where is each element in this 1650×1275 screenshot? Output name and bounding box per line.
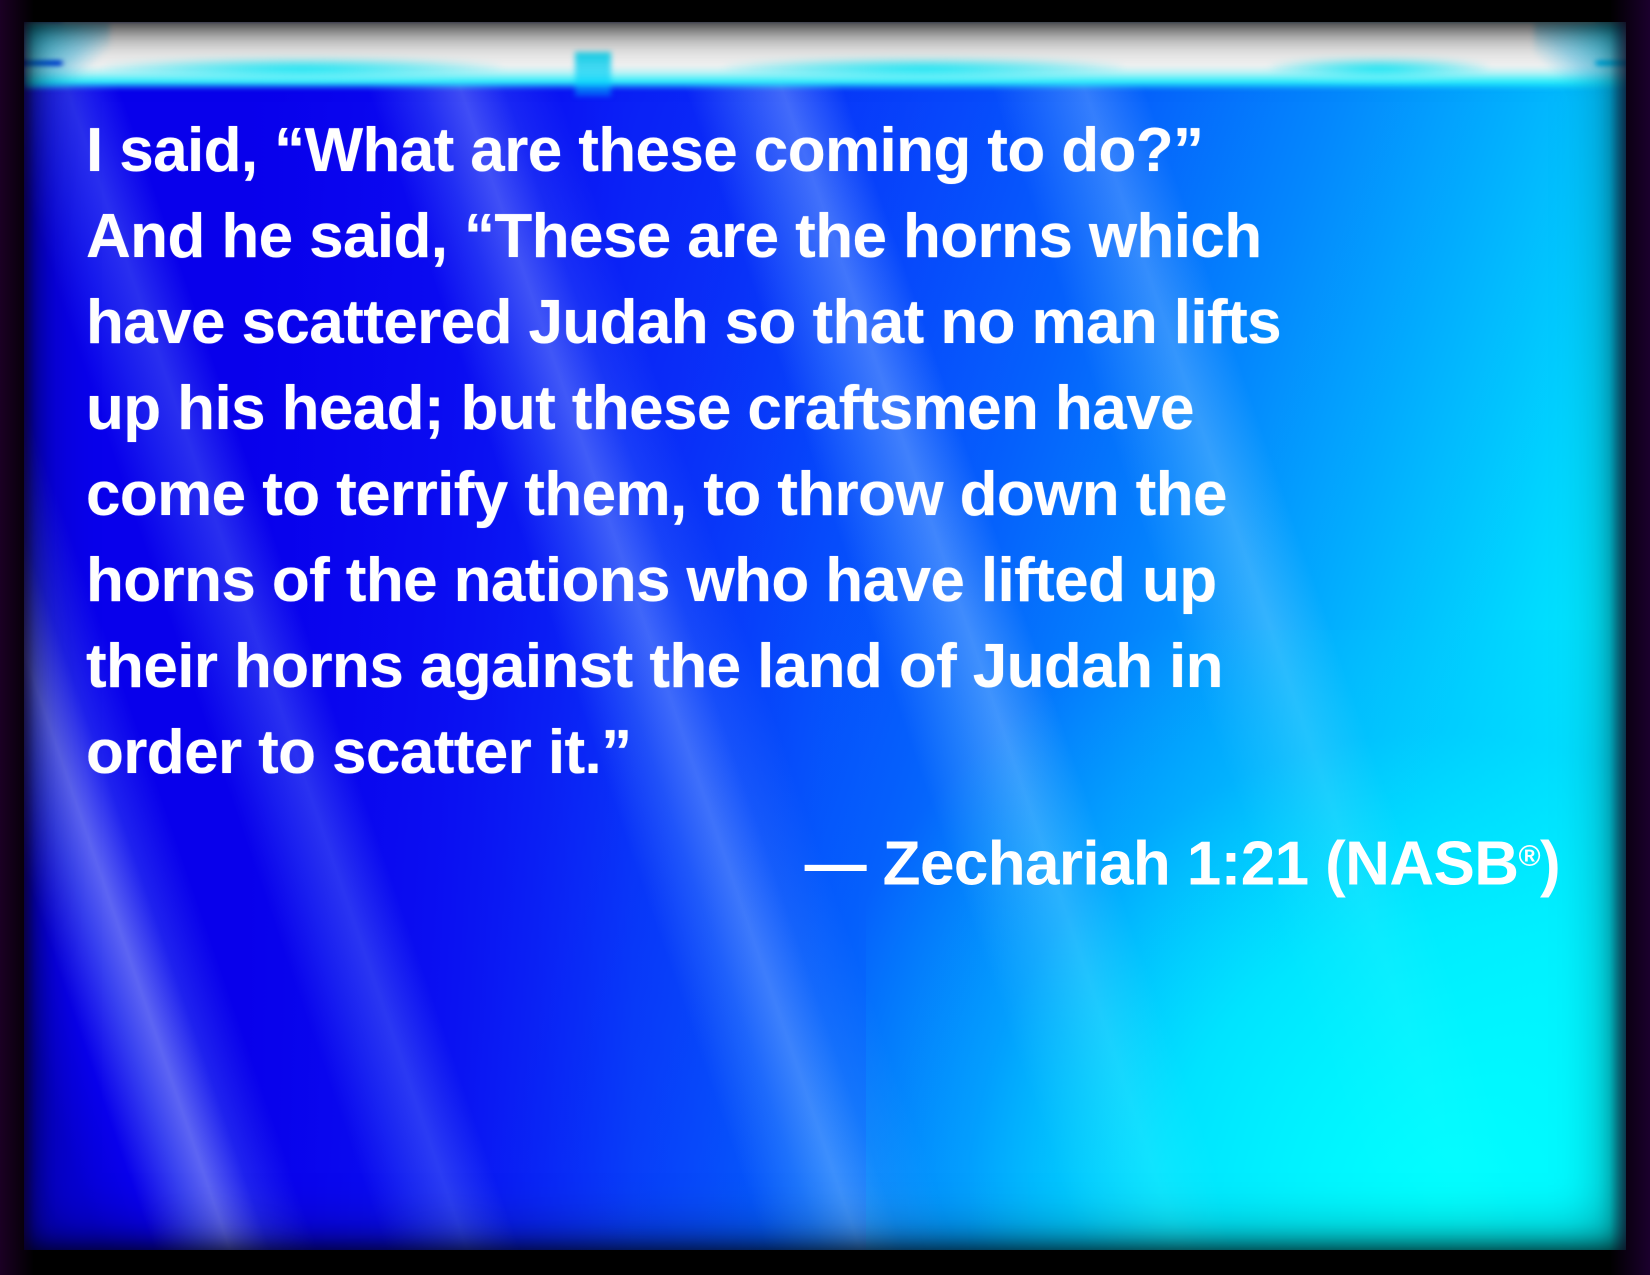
glow-notch (575, 52, 611, 96)
verse-text-block: I said, “What are these coming to do?” A… (24, 108, 1626, 904)
verse-attribution: — Zechariah 1:21 (NASB®) (86, 818, 1578, 904)
verse-line-6: horns of the nations who have lifted up (86, 538, 1578, 624)
verse-line-1: I said, “What are these coming to do?” (86, 108, 1578, 194)
verse-line-3: have scattered Judah so that no man lift… (86, 280, 1578, 366)
attribution-reference: — Zechariah 1:21 (NASB (805, 830, 1519, 899)
attribution-close-paren: ) (1540, 830, 1560, 899)
verse-line-2: And he said, “These are the horns which (86, 194, 1578, 280)
verse-line-7: their horns against the land of Judah in (86, 624, 1578, 710)
registered-trademark-icon: ® (1518, 840, 1540, 873)
glow-corner-right (1534, 22, 1626, 92)
verse-line-4: up his head; but these craftsmen have (86, 366, 1578, 452)
glow-cloud-right (1269, 58, 1489, 80)
verse-line-5: come to terrify them, to throw down the (86, 452, 1578, 538)
glow-corner-left (24, 22, 110, 88)
verse-line-8: order to scatter it.” (86, 710, 1578, 796)
glow-cloud-center (724, 58, 1124, 80)
verse-slide: I said, “What are these coming to do?” A… (0, 0, 1650, 1275)
top-glow-bar (24, 22, 1626, 94)
slide-panel: I said, “What are these coming to do?” A… (24, 22, 1626, 1250)
glow-cloud-left (102, 58, 502, 80)
